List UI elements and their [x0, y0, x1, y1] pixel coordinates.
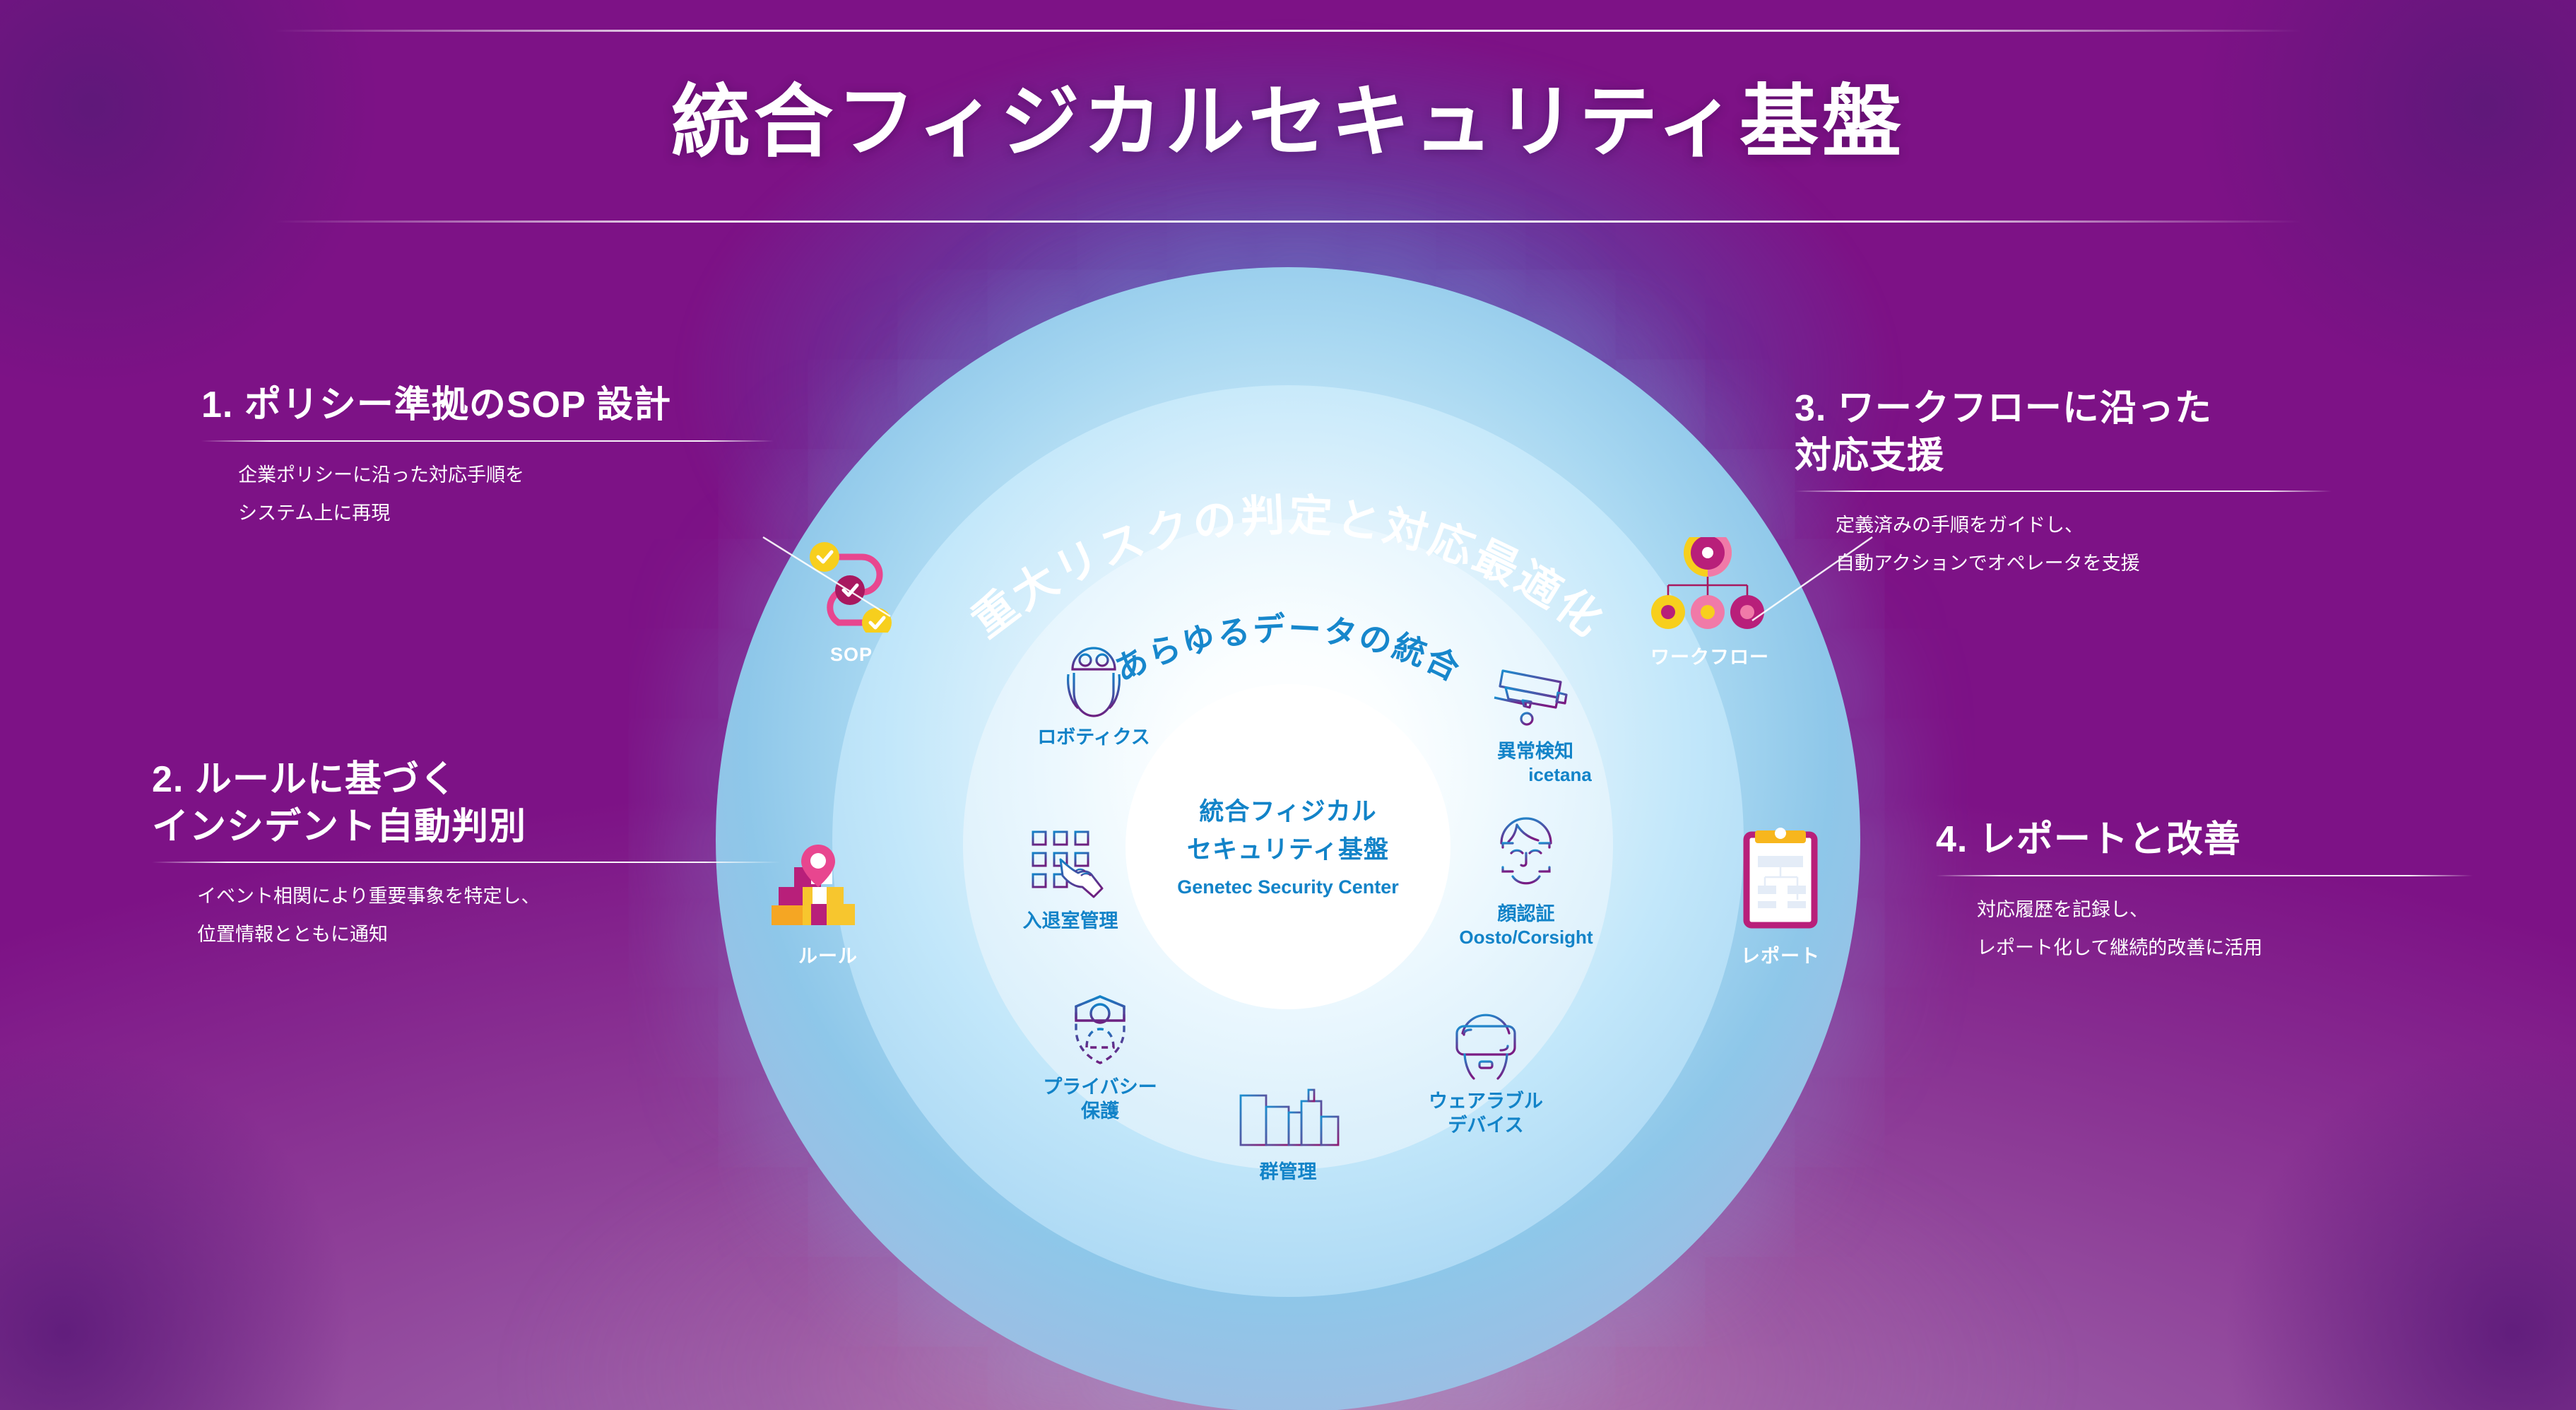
callout-heading: 4. レポートと改善: [1936, 816, 2473, 864]
callout-body: 対応履歴を記録し、 レポート化して継続的改善に活用: [1936, 891, 2473, 967]
capability-label: 顔認証: [1438, 903, 1614, 927]
vr-headset-icon: [1398, 1004, 1574, 1083]
capability-vendor: icetana: [1447, 764, 1624, 786]
callout-2: 2. ルールに基づく インシデント自動判別 イベント相関により重要事象を特定し、…: [152, 756, 781, 953]
capability-multisite[interactable]: 群管理: [1200, 1074, 1376, 1185]
callout-divider: [1936, 875, 2473, 876]
callout-body: 定義済みの手順をガイドし、 自動アクションでオペレータを支援: [1795, 506, 2332, 582]
pillar-report[interactable]: レポート: [1689, 838, 1872, 968]
callout-body: 企業ポリシーに沿った対応手順を システム上に再現: [201, 456, 774, 532]
infographic-canvas: 統合フィジカルセキュリティ基盤 重大リスクの判定と対応最適化 あらゆるデータの統…: [0, 0, 2576, 1410]
callout-heading: 2. ルールに基づく インシデント自動判別: [152, 756, 781, 850]
callout-heading: 1. ポリシー準拠のSOP 設計: [201, 382, 774, 429]
capability-label: プライバシー 保護: [1012, 1076, 1188, 1124]
pillar-label: ワークフロー: [1618, 642, 1802, 669]
sop-path-icon: [760, 541, 943, 633]
core-title-line1: 統合フィジカル: [1199, 795, 1376, 828]
callout-heading: 3. ワークフローに沿った 対応支援: [1795, 385, 2332, 479]
capability-label: ウェアラブル デバイス: [1398, 1090, 1574, 1138]
capability-access-control[interactable]: 入退室管理: [982, 823, 1159, 934]
callout-1: 1. ポリシー準拠のSOP 設計 企業ポリシーに沿った対応手順を システム上に再…: [201, 382, 774, 532]
core-title-line2: セキュリティ基盤: [1187, 833, 1389, 866]
capability-anomaly[interactable]: 異常検知 icetana: [1447, 654, 1624, 786]
pillar-sop[interactable]: SOP: [760, 541, 943, 666]
cctv-camera-icon: [1447, 654, 1624, 733]
capability-wearable[interactable]: ウェアラブル デバイス: [1398, 1004, 1574, 1138]
pillar-label: レポート: [1689, 941, 1872, 968]
callout-body: イベント相関により重要事象を特定し、 位置情報とともに通知: [152, 877, 781, 953]
capability-label: 異常検知: [1447, 740, 1624, 764]
capability-vendor: Oosto/Corsight: [1438, 927, 1614, 948]
title-divider-top: [274, 30, 2302, 32]
callout-4: 4. レポートと改善 対応履歴を記録し、 レポート化して継続的改善に活用: [1936, 816, 2473, 967]
clipboard-icon: [1689, 838, 1872, 929]
capability-robotics[interactable]: ロボティクス: [1005, 640, 1182, 750]
background-corner-bl: [0, 1042, 353, 1410]
callout-divider: [152, 862, 781, 863]
background-corner-br: [2223, 1042, 2576, 1410]
title-divider-bottom: [274, 221, 2302, 223]
keypad-hand-icon: [982, 823, 1159, 903]
title-band: 統合フィジカルセキュリティ基盤: [0, 30, 2576, 228]
pillar-label: SOP: [760, 644, 943, 666]
buildings-icon: [1200, 1074, 1376, 1153]
workflow-tree-icon: [1618, 539, 1802, 630]
page-title: 統合フィジカルセキュリティ基盤: [0, 58, 2576, 172]
face-scan-icon: [1438, 816, 1614, 895]
robot-icon: [1005, 640, 1182, 719]
capability-face-recognition[interactable]: 顔認証 Oosto/Corsight: [1438, 816, 1614, 948]
capability-privacy[interactable]: プライバシー 保護: [1012, 989, 1188, 1124]
pillar-workflow[interactable]: ワークフロー: [1618, 539, 1802, 669]
outer-arc-label: 重大リスクの判定と対応最適化: [964, 491, 1613, 647]
callout-3: 3. ワークフローに沿った 対応支援 定義済みの手順をガイドし、 自動アクション…: [1795, 385, 2332, 582]
capability-label: ロボティクス: [1005, 726, 1182, 750]
capability-label: 群管理: [1200, 1161, 1376, 1185]
callout-divider: [201, 440, 774, 442]
callout-divider: [1795, 490, 2332, 492]
core-product-name: Genetec Security Center: [1177, 876, 1399, 898]
shield-person-icon: [1012, 989, 1188, 1069]
capability-label: 入退室管理: [982, 910, 1159, 934]
